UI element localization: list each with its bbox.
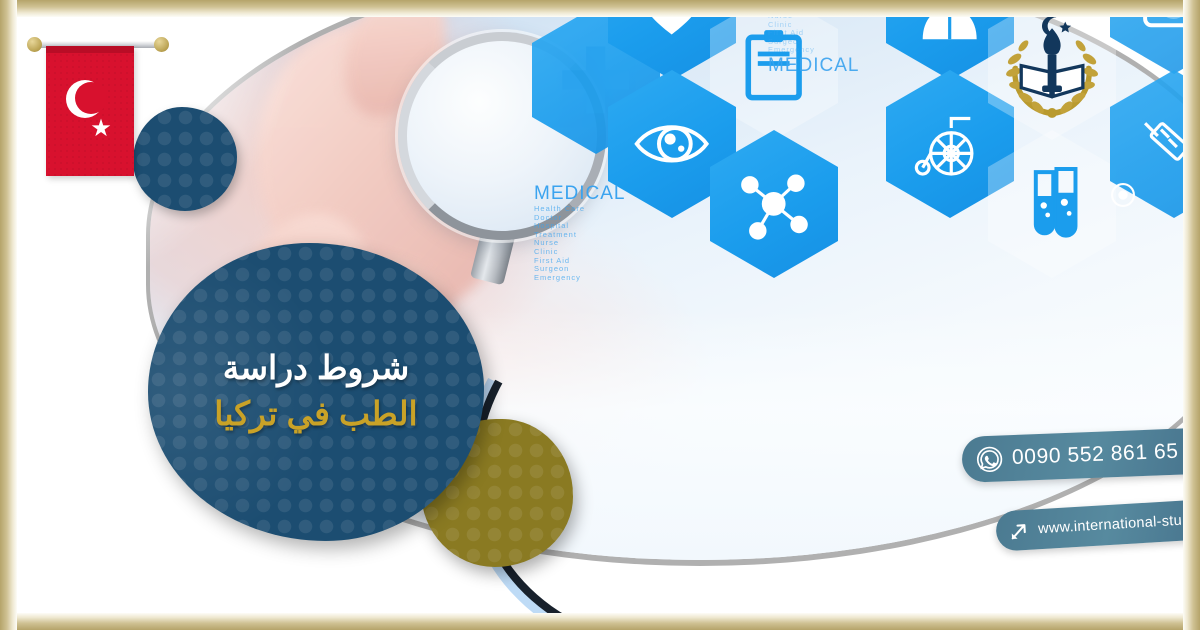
wheelchair-icon bbox=[910, 98, 989, 190]
heart-icon bbox=[632, 0, 711, 52]
flag-rod-cap-left bbox=[27, 37, 42, 52]
medical-label-upper-title: MEDICAL bbox=[768, 55, 859, 77]
phone-number: 0090 552 861 65 05 bbox=[1012, 438, 1200, 470]
whatsapp-icon bbox=[976, 445, 1004, 473]
syringe-icon bbox=[1134, 98, 1200, 190]
medical-label-title: MEDICAL bbox=[534, 183, 625, 205]
flag-crescent-cut bbox=[75, 82, 107, 114]
flag-cloth: ★ bbox=[46, 46, 134, 176]
website-url: www.international-stu.com bbox=[1038, 511, 1200, 537]
university-emblem-icon bbox=[997, 2, 1107, 129]
poster-canvas: MEDICAL Health Care Doctor Hospital Trea… bbox=[0, 0, 1200, 630]
hex-medical-bag bbox=[1110, 0, 1200, 74]
doctor-person-icon bbox=[910, 0, 989, 52]
decor-dot-circle-small bbox=[133, 107, 237, 211]
target-icon-wrap bbox=[1110, 182, 1136, 213]
phone-contact-bar[interactable]: 0090 552 861 65 05 bbox=[961, 427, 1200, 483]
flag-rod-cap-right bbox=[154, 37, 169, 52]
headline-badge: شروط دراسة الطب في تركيا bbox=[148, 243, 484, 541]
target-icon bbox=[1110, 182, 1136, 208]
headline-block: شروط دراسة الطب في تركيا bbox=[148, 347, 484, 437]
eye-icon bbox=[632, 98, 711, 190]
flag-star-icon: ★ bbox=[90, 118, 112, 140]
medical-label-list: Health Care Doctor Hospital Treatment Nu… bbox=[534, 205, 625, 282]
medical-label-upper: Nurse Clinic First Aid Surgeon Emergency… bbox=[768, 12, 859, 77]
molecule-icon bbox=[734, 158, 813, 250]
flag-top-band bbox=[46, 46, 134, 53]
medical-label-lower: MEDICAL Health Care Doctor Hospital Trea… bbox=[534, 183, 625, 282]
headline-line-2: الطب في تركيا bbox=[148, 392, 484, 437]
medical-bag-icon bbox=[1134, 0, 1200, 46]
arrow-cursor-icon bbox=[1008, 519, 1031, 542]
headline-line-1: شروط دراسة bbox=[148, 347, 484, 388]
frame-edge-left bbox=[0, 0, 17, 630]
test-tubes-icon bbox=[1012, 158, 1091, 250]
medical-label-upper-list: Nurse Clinic First Aid Surgeon Emergency bbox=[768, 12, 859, 55]
